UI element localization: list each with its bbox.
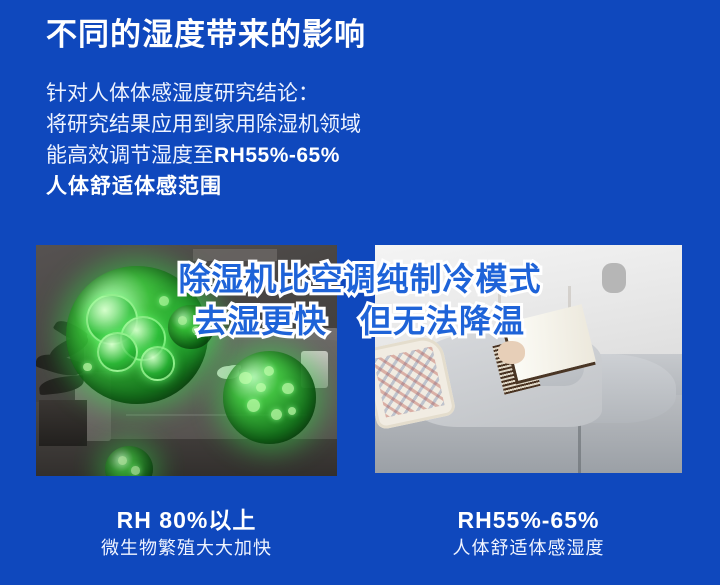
- conclusion-text-block: 针对人体体感湿度研究结论： 将研究结果应用到家用除湿机领域 能高效调节湿度至RH…: [46, 78, 361, 202]
- microbe-speck: [271, 409, 282, 420]
- plant-pot: [39, 400, 87, 446]
- overlay-headline: 除湿机比空调纯制冷模式 去湿更快 但无法降温: [0, 258, 720, 342]
- caption-right-sub: 人体舒适体感湿度: [375, 535, 682, 561]
- caption-high-humidity: RH 80%以上 微生物繁殖大大加快: [36, 505, 337, 561]
- caption-left-sub: 微生物繁殖大大加快: [36, 535, 337, 561]
- conclusion-line-3-prefix: 能高效调节湿度至: [46, 144, 214, 167]
- caption-left-main: RH 80%以上: [36, 505, 337, 535]
- conclusion-line-3: 能高效调节湿度至RH55%-65%: [46, 140, 361, 171]
- microbe-sphere-medium: [223, 351, 316, 443]
- caption-right-main: RH55%-65%: [375, 505, 682, 535]
- microbe-speck: [247, 399, 260, 412]
- microbe-cell: [140, 346, 175, 380]
- microbe-speck: [282, 383, 293, 394]
- comfort-range-value: RH55%-65%: [214, 144, 340, 167]
- caption-comfort-humidity: RH55%-65% 人体舒适体感湿度: [375, 505, 682, 561]
- page-title: 不同的湿度带来的影响: [46, 16, 366, 55]
- overlay-line-2: 去湿更快 但无法降温: [0, 300, 720, 342]
- person-hand: [498, 341, 526, 364]
- microbe-speck: [118, 456, 128, 465]
- overlay-line-1: 除湿机比空调纯制冷模式: [0, 258, 720, 300]
- conclusion-line-2: 将研究结果应用到家用除湿机领域: [46, 109, 361, 140]
- microbe-speck: [239, 372, 251, 384]
- conclusion-line-1: 针对人体体感湿度研究结论：: [46, 78, 361, 109]
- microbe-speck: [83, 363, 91, 371]
- microbe-speck: [288, 407, 296, 415]
- microbe-speck: [256, 383, 265, 392]
- humidity-infographic-poster: 不同的湿度带来的影响 针对人体体感湿度研究结论： 将研究结果应用到家用除湿机领域…: [0, 0, 720, 585]
- microbe-speck: [264, 366, 274, 376]
- conclusion-line-4: 人体舒适体感范围: [46, 171, 361, 202]
- microbe-speck: [131, 466, 140, 474]
